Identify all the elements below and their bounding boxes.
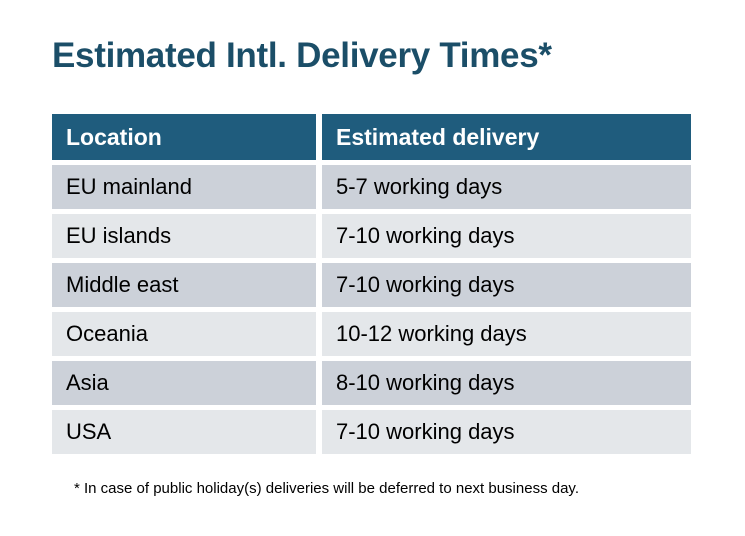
cell-estimated-delivery: 8-10 working days (322, 361, 691, 405)
table-row: Asia 8-10 working days (52, 361, 691, 405)
cell-location: EU islands (52, 214, 316, 258)
cell-estimated-delivery: 7-10 working days (322, 214, 691, 258)
cell-location: Oceania (52, 312, 316, 356)
cell-estimated-delivery: 10-12 working days (322, 312, 691, 356)
cell-estimated-delivery: 7-10 working days (322, 410, 691, 454)
table-header-row: Location Estimated delivery (52, 114, 691, 160)
column-header-estimated-delivery: Estimated delivery (322, 114, 691, 160)
footnote: * In case of public holiday(s) deliverie… (74, 480, 579, 497)
column-header-location: Location (52, 114, 316, 160)
cell-location: Asia (52, 361, 316, 405)
table-row: EU mainland 5-7 working days (52, 165, 691, 209)
cell-location: Middle east (52, 263, 316, 307)
page-title: Estimated Intl. Delivery Times* (52, 36, 552, 76)
table-row: EU islands 7-10 working days (52, 214, 691, 258)
delivery-times-page: Estimated Intl. Delivery Times* Location… (0, 0, 745, 536)
delivery-times-table: Location Estimated delivery EU mainland … (52, 114, 691, 454)
table-row: USA 7-10 working days (52, 410, 691, 454)
cell-location: EU mainland (52, 165, 316, 209)
cell-estimated-delivery: 5-7 working days (322, 165, 691, 209)
table-row: Oceania 10-12 working days (52, 312, 691, 356)
cell-estimated-delivery: 7-10 working days (322, 263, 691, 307)
table-row: Middle east 7-10 working days (52, 263, 691, 307)
cell-location: USA (52, 410, 316, 454)
